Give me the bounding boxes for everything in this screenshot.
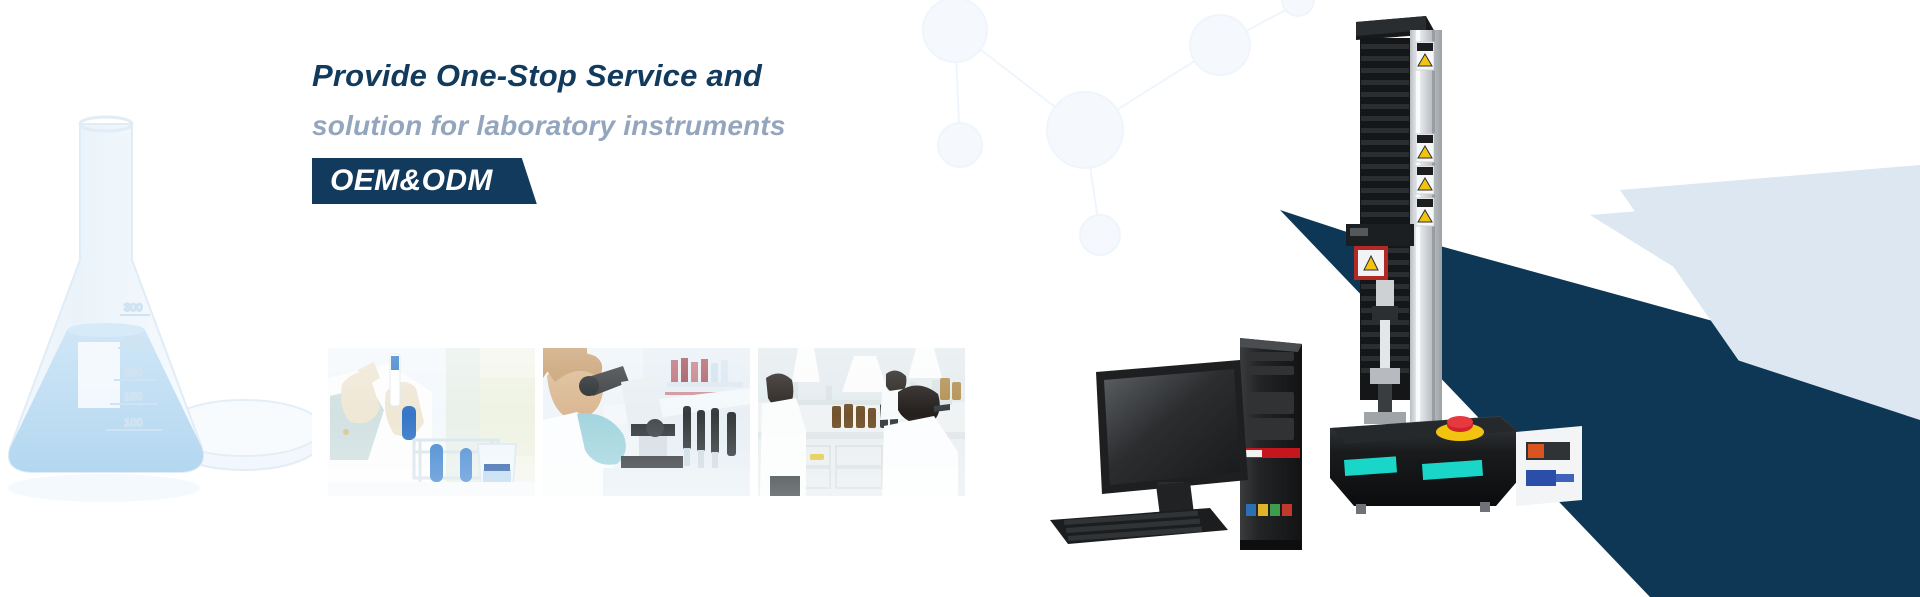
headline-line-2: solution for laboratory instruments bbox=[312, 108, 1072, 144]
warning-label-icon bbox=[1416, 42, 1434, 70]
promo-banner: 300 250 200 150 100 Provide One-Stop Ser… bbox=[0, 0, 1920, 597]
photo-microscope bbox=[543, 348, 750, 496]
headline-block: Provide One-Stop Service and solution fo… bbox=[312, 56, 1072, 204]
emergency-stop-button bbox=[1436, 416, 1484, 441]
angle-graphics bbox=[1360, 0, 1920, 597]
universal-testing-machine-image bbox=[1320, 8, 1620, 568]
oem-odm-badge: OEM&ODM bbox=[312, 158, 537, 204]
warning-label-icon bbox=[1416, 166, 1434, 194]
dark-arrow-shape bbox=[1360, 202, 1920, 597]
photo-lab-team bbox=[758, 348, 965, 496]
warning-label-icon bbox=[1416, 198, 1434, 226]
photo-strip bbox=[328, 348, 965, 496]
photo-pipetting bbox=[328, 348, 535, 496]
svg-text:200: 200 bbox=[124, 367, 142, 379]
svg-text:100: 100 bbox=[124, 417, 142, 429]
svg-text:150: 150 bbox=[124, 391, 142, 403]
dark-arrow-shape-2 bbox=[1280, 210, 1920, 597]
desktop-computer-image bbox=[1040, 330, 1310, 560]
warning-label-icon bbox=[1416, 134, 1434, 162]
light-triangle-shape bbox=[1590, 180, 1920, 420]
svg-text:300: 300 bbox=[124, 302, 142, 314]
light-triangle-shape-2 bbox=[1620, 165, 1920, 480]
badge-label: OEM&ODM bbox=[312, 158, 537, 204]
svg-text:250: 250 bbox=[124, 335, 142, 347]
angle-graphics-layer2 bbox=[1220, 0, 1920, 597]
erlenmeyer-flask-icon: 300 250 200 150 100 bbox=[0, 110, 312, 530]
headline-line-1: Provide One-Stop Service and bbox=[312, 56, 1072, 96]
